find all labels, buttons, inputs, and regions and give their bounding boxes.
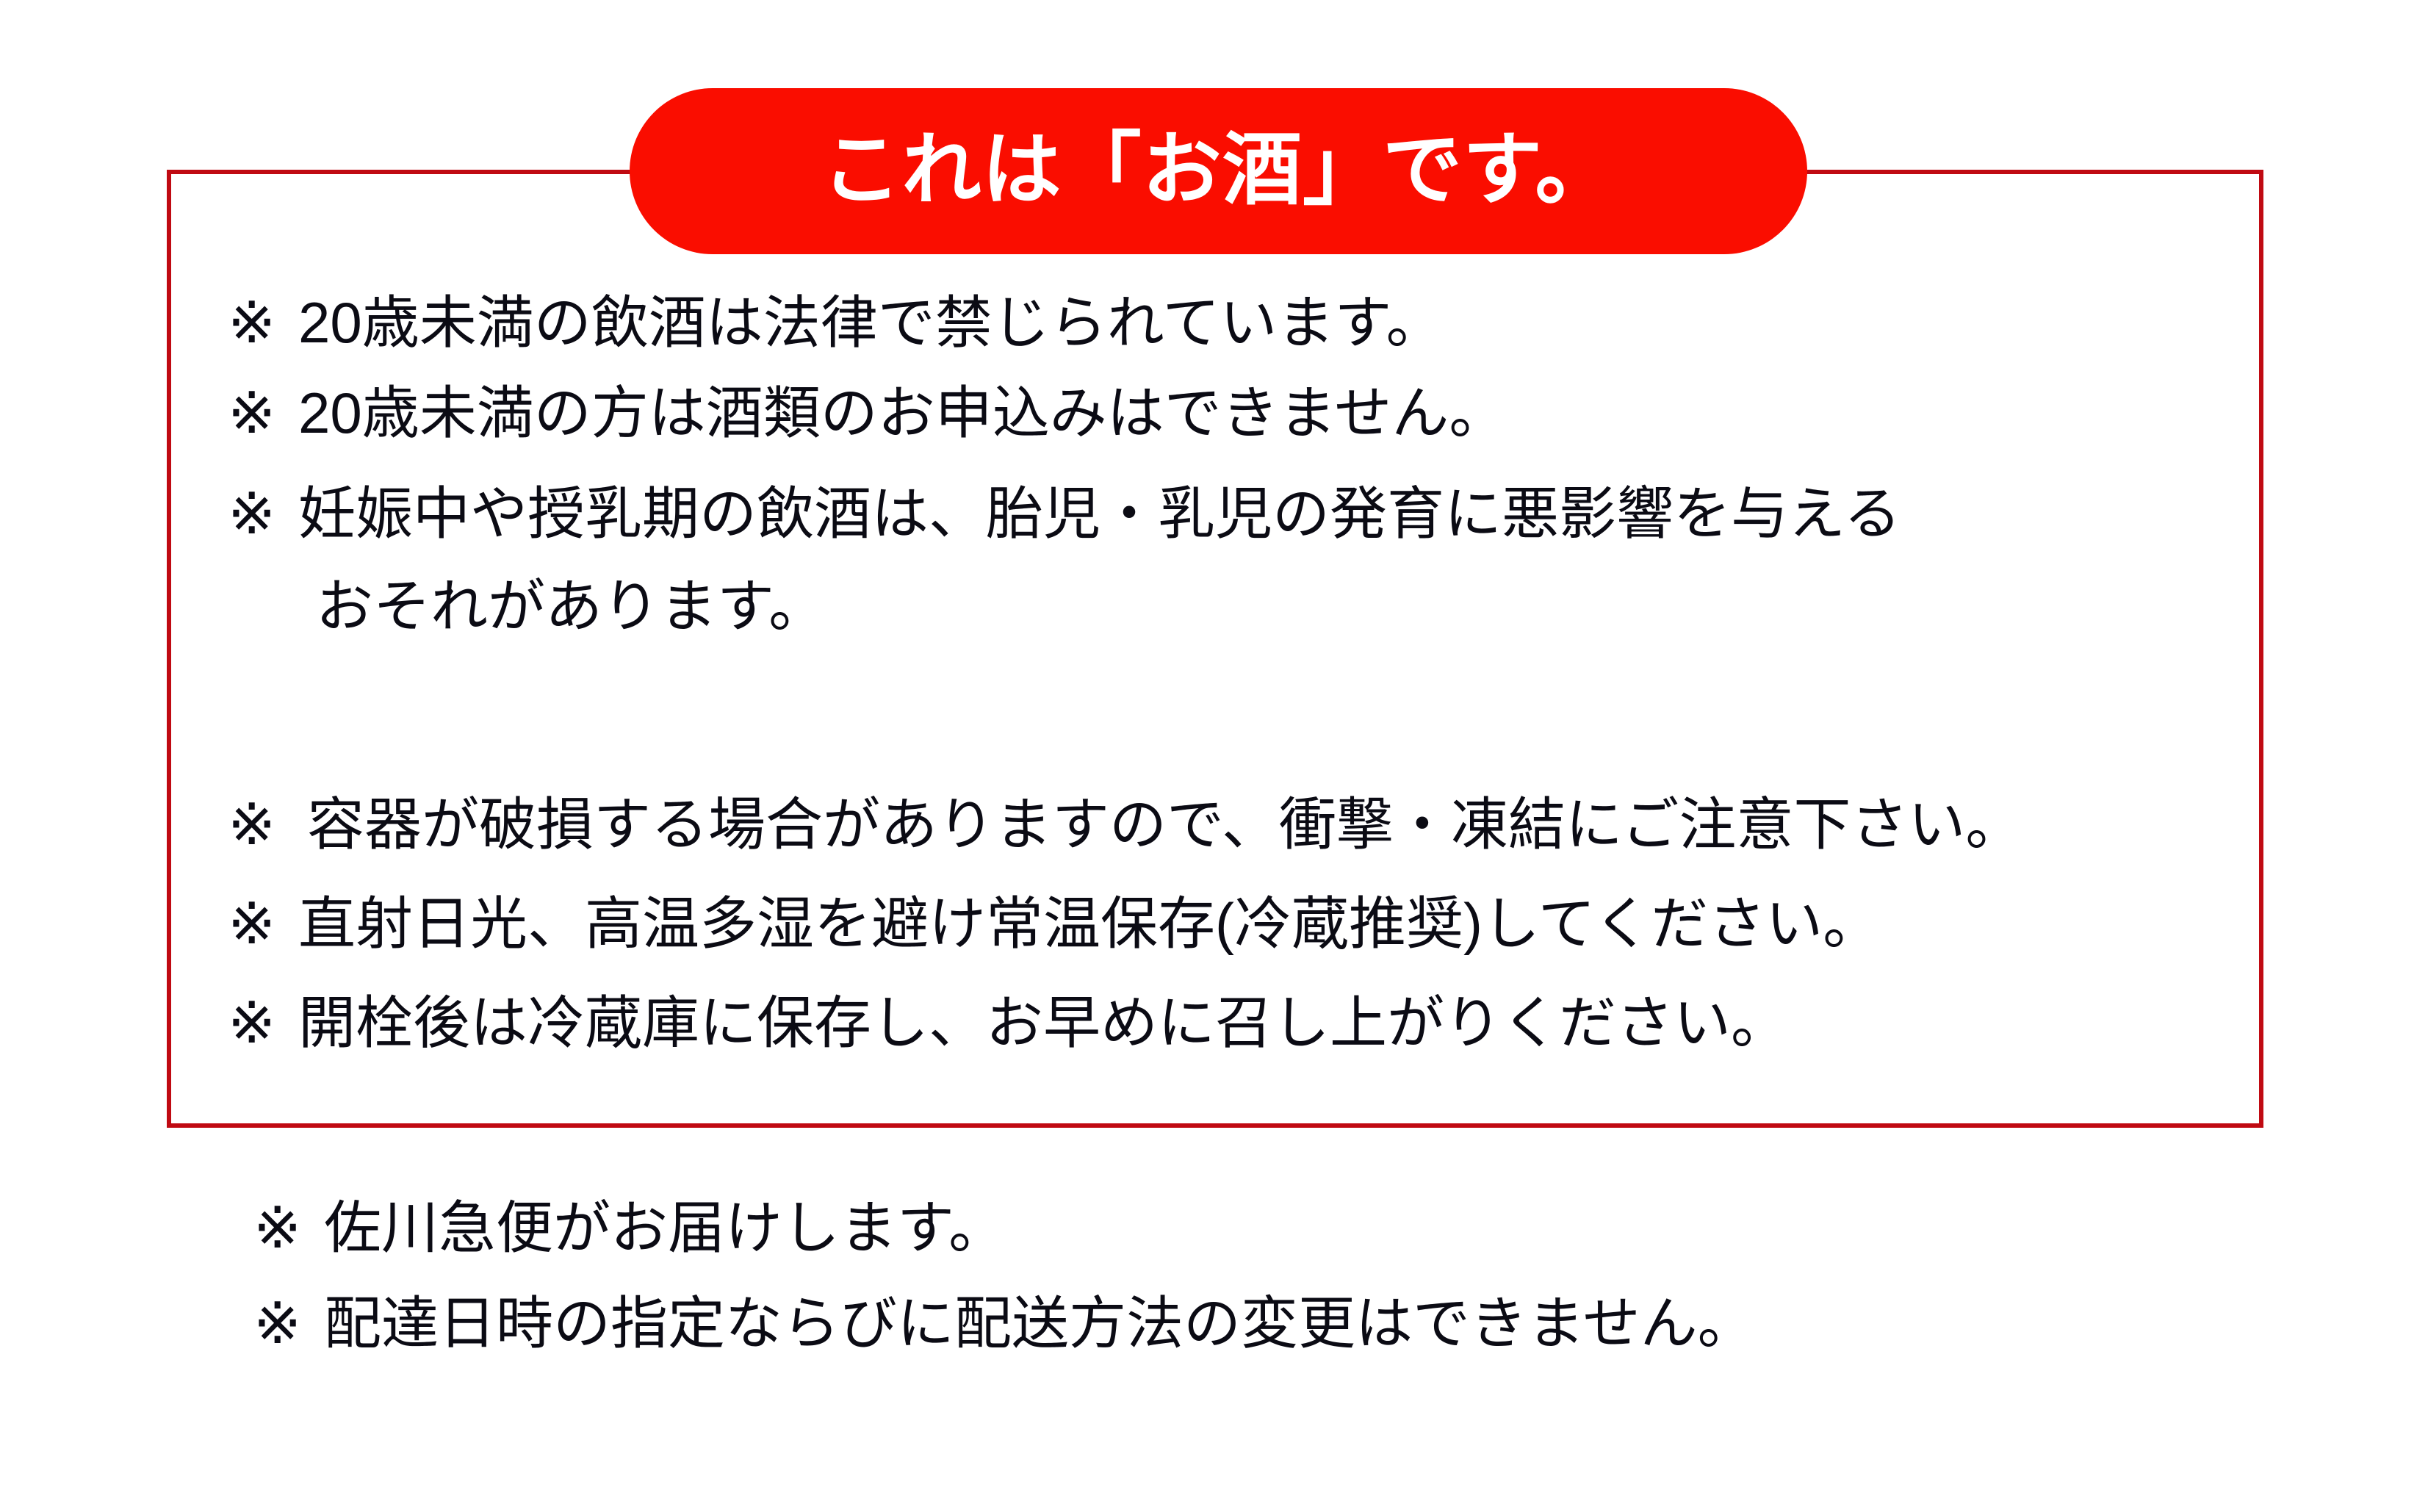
delivery-line-no-date-change: ※配達日時の指定ならびに配送方法の変更はできません。 xyxy=(253,1295,1755,1352)
delivery-line-carrier: ※佐川急便がお届けします。 xyxy=(253,1199,1006,1256)
bullet-mark-icon: ※ xyxy=(228,994,298,1051)
delivery-line-text: 佐川急便がお届けします。 xyxy=(324,1195,1006,1260)
notice-line-text: 20歳未満の飲酒は法律で禁じられています。 xyxy=(298,290,1444,355)
bullet-mark-icon: ※ xyxy=(228,796,307,853)
notice-line-storage: ※直射日光、高温多湿を避け常温保存(冷蔵推奨)してください。 xyxy=(228,895,1880,952)
alcohol-banner-title: これは「お酒」です。 xyxy=(821,130,1615,209)
notice-line-container-damage: ※容器が破損する場合がありますので、衝撃・凍結にご注意下さい。 xyxy=(228,796,2022,853)
notice-line-text: 容器が破損する場合がありますので、衝撃・凍結にご注意下さい。 xyxy=(307,792,2022,857)
notice-line-pregnancy-continued: おそれがあります。 xyxy=(316,577,826,635)
bullet-mark-icon: ※ xyxy=(228,485,298,542)
bullet-mark-icon: ※ xyxy=(253,1199,324,1256)
delivery-line-text: 配達日時の指定ならびに配送方法の変更はできません。 xyxy=(324,1291,1755,1356)
bullet-mark-icon: ※ xyxy=(228,294,298,351)
notice-line-after-opening: ※開栓後は冷蔵庫に保存し、お早めに召し上がりください。 xyxy=(228,994,1788,1051)
notice-line-text: おそれがあります。 xyxy=(316,574,826,638)
notice-line-text: 開栓後は冷蔵庫に保存し、お早めに召し上がりください。 xyxy=(298,990,1788,1055)
notice-line-age-order: ※20歳未満の方は酒類のお申込みはできません。 xyxy=(228,384,1506,442)
notice-line-text: 妊娠中や授乳期の飲酒は、胎児・乳児の発育に悪影響を与える xyxy=(298,481,1901,546)
alcohol-banner: これは「お酒」です。 xyxy=(630,88,1807,254)
notice-page: これは「お酒」です。 ※20歳未満の飲酒は法律で禁じられています。 ※20歳未満… xyxy=(0,0,2428,1512)
notice-line-pregnancy: ※妊娠中や授乳期の飲酒は、胎児・乳児の発育に悪影響を与える xyxy=(228,485,1901,542)
bullet-mark-icon: ※ xyxy=(228,895,298,952)
bullet-mark-icon: ※ xyxy=(253,1295,324,1352)
bullet-mark-icon: ※ xyxy=(228,384,298,442)
notice-line-text: 20歳未満の方は酒類のお申込みはできません。 xyxy=(298,381,1506,445)
notice-line-age-law: ※20歳未満の飲酒は法律で禁じられています。 xyxy=(228,294,1444,351)
notice-line-text: 直射日光、高温多湿を避け常温保存(冷蔵推奨)してください。 xyxy=(298,891,1880,956)
